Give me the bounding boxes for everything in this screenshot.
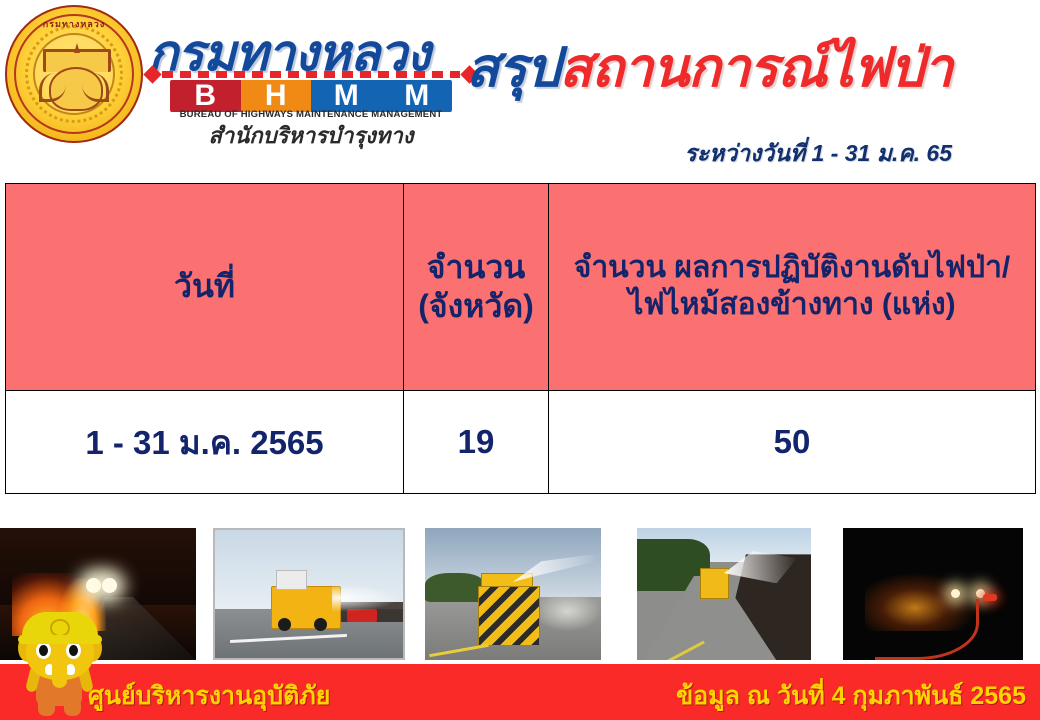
poster-footer: ศูนย์บริหารงานอุบัติภัย ข้อมูล ณ วันที่ … — [0, 664, 1040, 720]
column-header-date: วันที่ — [6, 184, 404, 391]
photo3-truck-rear — [478, 586, 540, 646]
page-title-red-part: สถานการณ์ไฟป่า — [559, 38, 952, 98]
summary-table: วันที่ จำนวน (จังหวัด) จำนวน ผลการปฏิบัต… — [5, 183, 1036, 494]
footer-organization-label: ศูนย์บริหารงานอุบัติภัย — [88, 676, 330, 716]
table-header-row: วันที่ จำนวน (จังหวัด) จำนวน ผลการปฏิบัต… — [6, 184, 1036, 391]
bhmm-logo: B H M M — [170, 80, 452, 112]
department-of-highways-seal-icon: กรมทางหลวง — [5, 5, 143, 143]
column-header-incident-count-line1: จำนวน ผลการปฏิบัติงานดับไฟป่า/ — [555, 250, 1029, 287]
photo-strip — [0, 528, 1040, 660]
bhmm-thai-subtitle: สำนักบริหารบำรุงทาง — [170, 118, 452, 153]
page-title-blue-part: สรุป — [466, 38, 559, 98]
seal-bridge-emblem-icon — [39, 49, 109, 111]
photo-water-truck-spraying — [213, 528, 405, 660]
mascot-trunk — [52, 658, 67, 688]
poster-header: กรมทางหลวง กรมทางหลวง B H M M BUREAU OF … — [0, 0, 1040, 175]
column-header-incident-count: จำนวน ผลการปฏิบัติงานดับไฟป่า/ ไฟไหม้สอง… — [549, 184, 1036, 391]
page-title: สรุปสถานการณ์ไฟป่า — [466, 24, 952, 110]
photo-hillside-water-spray — [637, 528, 811, 660]
mascot-eye-right — [66, 642, 81, 659]
photo3-smoke — [534, 591, 601, 631]
cell-date: 1 - 31 ม.ค. 2565 — [6, 391, 404, 494]
photo-fire-truck-rear-spray — [425, 528, 601, 660]
table-row: 1 - 31 ม.ค. 2565 19 50 — [6, 391, 1036, 494]
column-header-province-count: จำนวน (จังหวัด) — [404, 184, 549, 391]
mascot-hat-logo — [50, 619, 70, 637]
dash-run — [162, 71, 460, 78]
photo-night-firefighting — [843, 528, 1023, 660]
photo5-taillight — [983, 594, 997, 601]
column-header-province-count-line1: จำนวน — [404, 248, 548, 287]
bhmm-letter-m2: M — [382, 80, 453, 112]
mascot-eye-left — [36, 642, 51, 659]
photo5-headlight-left — [951, 589, 960, 598]
cell-province-count: 19 — [404, 391, 549, 494]
column-header-province-count-line2: (จังหวัด) — [404, 287, 548, 326]
elephant-mascot-icon — [14, 608, 106, 716]
mascot-hard-hat-icon — [22, 612, 98, 640]
photo2-water-spray — [332, 584, 400, 612]
column-header-incident-count-line2: ไฟไหม้สองข้างทาง (แห่ง) — [555, 287, 1029, 324]
cell-incident-count: 50 — [549, 391, 1036, 494]
bhmm-letter-b: B — [170, 80, 241, 112]
photo2-wheel-front — [278, 618, 291, 631]
seal-label: กรมทางหลวง — [5, 17, 143, 31]
mascot-tusk-right — [66, 664, 75, 675]
footer-data-date-label: ข้อมูล ณ วันที่ 4 กุมภาพันธ์ 2565 — [676, 676, 1026, 716]
date-range-subtitle: ระหว่างวันที่ 1 - 31 ม.ค. 65 — [684, 136, 952, 172]
fire-situation-summary-poster: กรมทางหลวง กรมทางหลวง B H M M BUREAU OF … — [0, 0, 1040, 720]
bhmm-letter-h: H — [241, 80, 312, 112]
bhmm-letter-m1: M — [311, 80, 382, 112]
photo3-trees — [425, 573, 485, 602]
photo1-headlight-right — [102, 578, 117, 593]
photo4-yellow-truck — [700, 568, 730, 599]
